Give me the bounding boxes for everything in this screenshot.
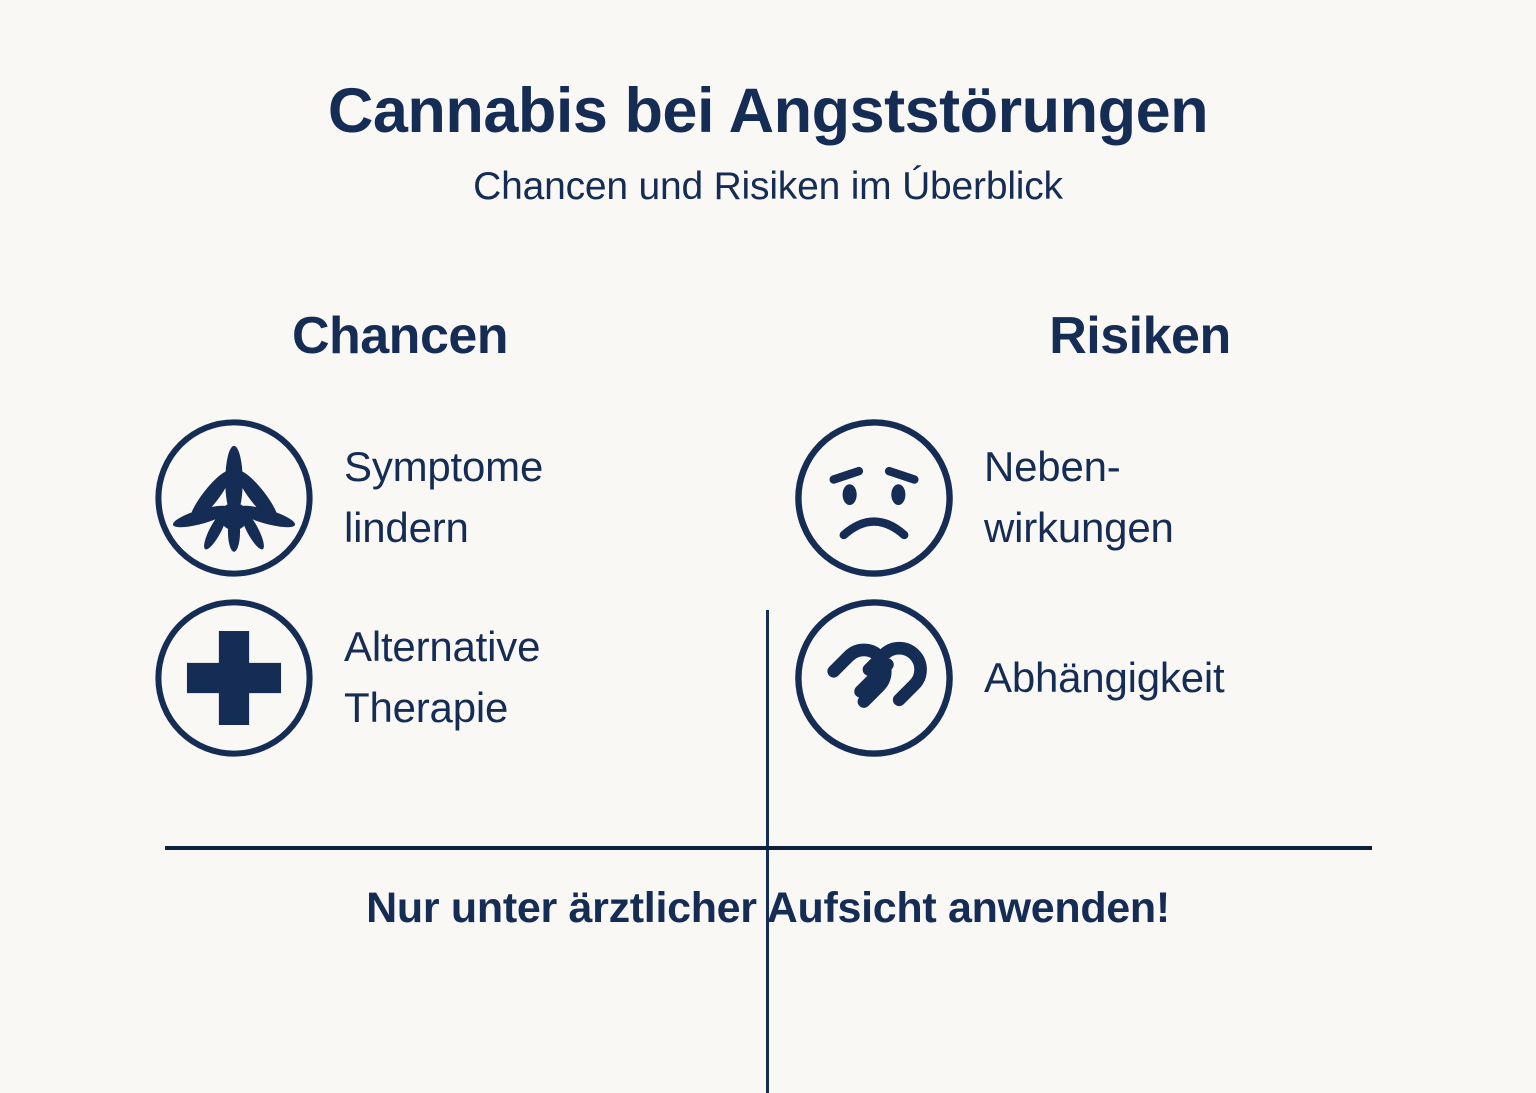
list-item-label: Neben- wirkungen [984, 437, 1174, 559]
footer-note: Nur unter ärztlicher Aufsicht anwenden! [0, 884, 1536, 933]
infographic-poster: Cannabis bei Angststörungen Chancen und … [0, 0, 1536, 1024]
cannabis-leaf-icon [150, 414, 318, 582]
column-risiken: Risiken Neben- wirkungen [790, 300, 1410, 800]
list-item: Alternative Therapie [150, 588, 770, 768]
column-divider [766, 610, 769, 1093]
list-item-label: Abhängigkeit [984, 648, 1224, 709]
column-chancen: Chancen [150, 300, 770, 800]
list-item-label: Symptome lindern [344, 437, 543, 559]
column-heading-chancen: Chancen [160, 300, 640, 380]
page-subtitle: Chancen und Risiken im Úberblick [0, 166, 1536, 209]
page-title: Cannabis bei Angststörungen [0, 78, 1536, 144]
column-heading-risiken: Risiken [900, 300, 1380, 380]
list-item: Neben- wirkungen [790, 408, 1410, 588]
header: Cannabis bei Angststörungen Chancen und … [0, 78, 1536, 209]
chain-link-icon [790, 594, 958, 762]
comparison-columns: Chancen [0, 300, 1536, 800]
list-item-label: Alternative Therapie [344, 617, 540, 739]
footer-divider [165, 846, 1372, 850]
list-item: Abhängigkeit [790, 588, 1410, 768]
medical-cross-icon [150, 594, 318, 762]
sad-face-icon [790, 414, 958, 582]
list-item: Symptome lindern [150, 408, 770, 588]
